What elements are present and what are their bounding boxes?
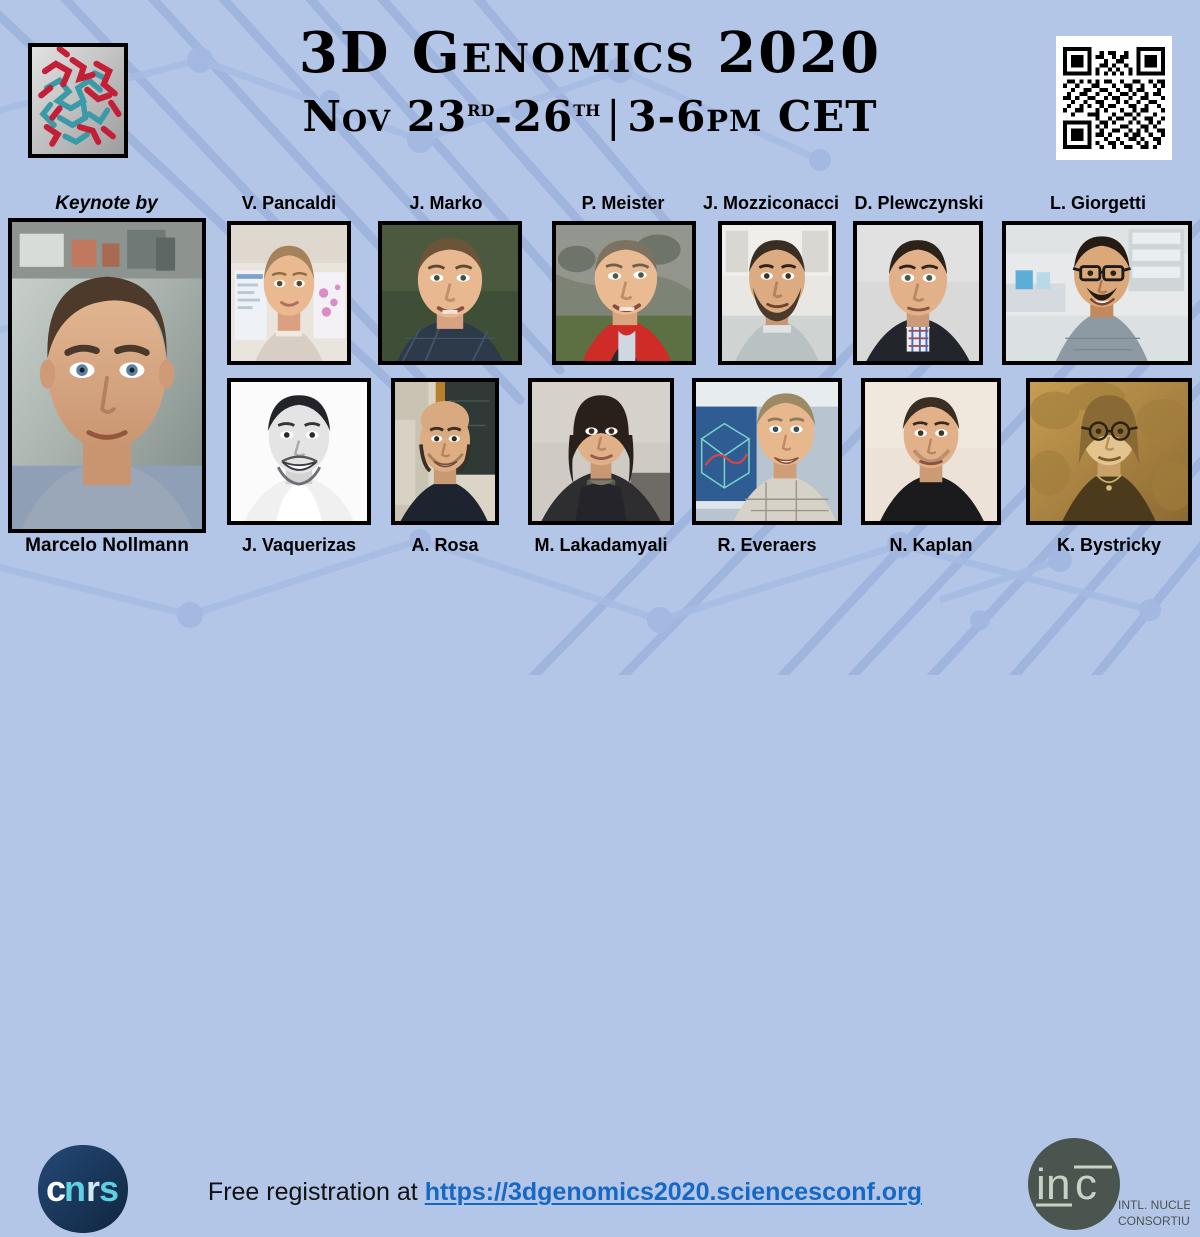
svg-text:i: i (1036, 1160, 1046, 1209)
registration-prefix: Free registration at (208, 1178, 425, 1206)
date-prefix: Nov 23 (302, 92, 467, 141)
chromatin-polymer-icon (28, 43, 128, 158)
speaker-name-everaers: R. Everaers (692, 536, 842, 554)
photo-plewczynski (853, 221, 983, 365)
photo-meister (552, 221, 696, 365)
inc-logo-icon: i n c INTL. NUCLEOME CONSORTIUM (1022, 1137, 1190, 1237)
photo-marko (378, 221, 522, 365)
speaker-name-mozziconacci: J. Mozziconacci (690, 194, 852, 212)
photo-mozziconacci (718, 221, 836, 365)
cnrs-logo-icon: c n r s (36, 1143, 130, 1235)
registration-link[interactable]: https://3dgenomics2020.sciencesconf.org (425, 1178, 922, 1206)
conference-poster: 3D Genomics 2020 Nov 23rd-26th|3-6pm CET (0, 0, 1200, 675)
speaker-name-marko: J. Marko (378, 194, 514, 212)
svg-text:s: s (99, 1168, 119, 1209)
svg-text:n: n (64, 1168, 86, 1209)
speaker-name-pancaldi: V. Pancaldi (227, 194, 351, 212)
speaker-name-plewczynski: D. Plewczynski (843, 194, 995, 212)
photo-kaplan (861, 378, 1001, 525)
photo-keynote-nollmann (8, 218, 206, 533)
keynote-name: Marcelo Nollmann (0, 535, 214, 557)
speaker-name-rosa: A. Rosa (385, 536, 505, 554)
date-ordinal-first: rd (467, 94, 494, 122)
svg-text:n: n (1046, 1160, 1070, 1209)
date-time-separator: | (600, 91, 627, 144)
photo-lakadamyali (528, 378, 674, 525)
inc-line2: CONSORTIUM (1118, 1214, 1190, 1228)
inc-line1: INTL. NUCLEOME (1118, 1198, 1190, 1212)
photo-bystricky (1026, 378, 1192, 525)
qr-code-icon[interactable] (1056, 36, 1172, 160)
event-time: 3-6pm CET (627, 92, 877, 141)
photo-pancaldi (227, 221, 351, 365)
page-title: 3D Genomics 2020 (150, 22, 1030, 85)
title-block: 3D Genomics 2020 Nov 23rd-26th|3-6pm CET (150, 22, 1030, 143)
speaker-name-bystricky: K. Bystricky (1026, 536, 1192, 554)
photo-vaquerizas (227, 378, 371, 525)
date-middle: -26 (494, 92, 573, 141)
speaker-name-meister: P. Meister (550, 194, 696, 212)
photo-everaers (692, 378, 842, 525)
keynote-label: Keynote by (8, 193, 205, 215)
photo-rosa (391, 378, 499, 525)
speaker-name-kaplan: N. Kaplan (861, 536, 1001, 554)
photo-giorgetti (1002, 221, 1192, 365)
speaker-name-vaquerizas: J. Vaquerizas (217, 536, 381, 554)
date-ordinal-second: th (573, 94, 600, 122)
speaker-name-lakadamyali: M. Lakadamyali (513, 536, 689, 554)
speaker-name-giorgetti: L. Giorgetti (1002, 194, 1194, 212)
poster-header: 3D Genomics 2020 Nov 23rd-26th|3-6pm CET (0, 0, 1200, 180)
registration-line: Free registration at https://3dgenomics2… (150, 1178, 980, 1207)
poster-footer: c n r s Free registration at https://3dg… (0, 565, 1200, 675)
event-dates-times: Nov 23rd-26th|3-6pm CET (150, 91, 1030, 144)
svg-text:r: r (86, 1168, 100, 1209)
